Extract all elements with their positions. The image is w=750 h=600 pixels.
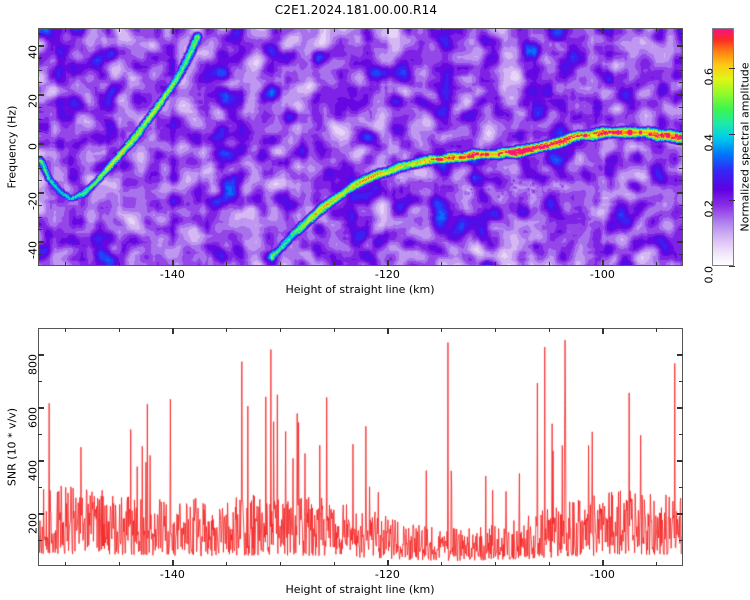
y-tick-label: 20 (27, 94, 40, 108)
x-tick-minor (65, 28, 66, 32)
x-tick-minor (334, 328, 335, 332)
x-tick-label: -140 (160, 568, 185, 581)
y-tick-minor (38, 229, 42, 230)
x-tick-label: -100 (590, 568, 615, 581)
y-tick-minor (38, 33, 42, 34)
y-tick-minor (38, 70, 42, 71)
x-tick-minor (656, 262, 657, 266)
x-tick-major (387, 28, 388, 34)
x-tick-minor (495, 262, 496, 266)
x-tick-minor (656, 28, 657, 32)
x-tick-major (387, 260, 388, 266)
x-tick-minor (495, 562, 496, 566)
spectrogram-x-axis-title: Height of straight line (km) (285, 283, 434, 296)
y-tick-label: 40 (27, 45, 40, 59)
page-title: C2E1.2024.181.00.00.R14 (0, 3, 712, 17)
y-tick-minor (38, 156, 42, 157)
snr-x-axis-title: Height of straight line (km) (285, 583, 434, 596)
y-tick-minor (679, 229, 683, 230)
spectrogram-plot-area[interactable] (38, 28, 683, 266)
y-tick-minor (38, 381, 42, 382)
x-tick-label: -120 (375, 268, 400, 281)
y-tick-label: 200 (27, 513, 40, 534)
y-tick-minor (38, 540, 42, 541)
y-tick-label: -20 (27, 192, 40, 210)
y-tick-minor (679, 254, 683, 255)
y-tick-minor (679, 381, 683, 382)
x-tick-minor (119, 562, 120, 566)
y-tick-minor (38, 131, 42, 132)
x-tick-minor (495, 328, 496, 332)
x-tick-major (172, 260, 173, 266)
x-tick-major (602, 560, 603, 566)
y-tick-minor (679, 540, 683, 541)
x-tick-minor (65, 262, 66, 266)
figure-canvas: C2E1.2024.181.00.00.R14 -140-120-1004020… (0, 0, 750, 600)
y-tick-label: 0 (27, 143, 40, 150)
y-tick-minor (679, 131, 683, 132)
x-tick-minor (334, 562, 335, 566)
x-tick-minor (280, 562, 281, 566)
y-tick-label: -40 (27, 241, 40, 259)
x-tick-minor (656, 328, 657, 332)
y-tick-minor (679, 205, 683, 206)
y-tick-minor (679, 107, 683, 108)
y-tick-major (677, 192, 683, 193)
y-tick-major (677, 143, 683, 144)
y-tick-minor (679, 33, 683, 34)
snr-y-axis-title: SNR (10 * v/v) (6, 408, 19, 486)
x-tick-major (172, 28, 173, 34)
y-tick-major (677, 407, 683, 408)
x-tick-minor (549, 262, 550, 266)
x-tick-minor (280, 328, 281, 332)
y-tick-minor (679, 487, 683, 488)
y-tick-label: 400 (27, 460, 40, 481)
x-tick-label: -100 (590, 268, 615, 281)
y-tick-major (677, 513, 683, 514)
y-tick-minor (679, 180, 683, 181)
x-tick-major (387, 328, 388, 334)
snr-plot-area[interactable] (38, 328, 683, 566)
colorbar-tick-label: 0.0 (703, 266, 716, 284)
colorbar-tick (729, 266, 735, 267)
x-tick-minor (549, 328, 550, 332)
colorbar-tick (729, 68, 735, 69)
snr-line-series (39, 329, 683, 566)
x-tick-major (172, 328, 173, 334)
x-tick-minor (226, 328, 227, 332)
colorbar-gradient (713, 29, 733, 265)
x-tick-label: -140 (160, 268, 185, 281)
colorbar-title: Normalized spectral amplitude (739, 62, 750, 231)
y-tick-minor (38, 434, 42, 435)
x-tick-minor (226, 262, 227, 266)
colorbar-tick-label: 0.2 (703, 200, 716, 218)
y-tick-major (677, 45, 683, 46)
x-tick-minor (119, 328, 120, 332)
y-tick-minor (38, 487, 42, 488)
y-tick-major (677, 94, 683, 95)
y-tick-minor (679, 156, 683, 157)
spectrogram-image (39, 29, 683, 266)
x-tick-minor (280, 262, 281, 266)
x-tick-minor (119, 262, 120, 266)
x-tick-major (602, 260, 603, 266)
x-tick-minor (334, 28, 335, 32)
colorbar-tick-label: 0.4 (703, 134, 716, 152)
x-tick-minor (226, 28, 227, 32)
x-tick-minor (226, 562, 227, 566)
y-tick-minor (38, 119, 42, 120)
y-tick-minor (679, 70, 683, 71)
y-tick-minor (679, 168, 683, 169)
y-tick-minor (679, 57, 683, 58)
x-tick-minor (549, 28, 550, 32)
x-tick-minor (65, 328, 66, 332)
x-tick-minor (334, 262, 335, 266)
x-tick-minor (65, 562, 66, 566)
y-tick-minor (38, 168, 42, 169)
x-tick-major (172, 560, 173, 566)
y-tick-minor (679, 119, 683, 120)
colorbar-tick (729, 200, 735, 201)
x-tick-minor (441, 262, 442, 266)
x-tick-major (387, 560, 388, 566)
x-tick-major (602, 328, 603, 334)
y-tick-label: 600 (27, 407, 40, 428)
y-tick-minor (38, 180, 42, 181)
x-tick-minor (441, 562, 442, 566)
x-tick-minor (495, 28, 496, 32)
x-tick-minor (441, 28, 442, 32)
colorbar-tick (729, 134, 735, 135)
spectrogram-y-axis-title: Frequency (Hz) (6, 106, 19, 189)
y-tick-label: 800 (27, 354, 40, 375)
y-tick-major (677, 241, 683, 242)
x-tick-minor (119, 28, 120, 32)
x-tick-minor (656, 562, 657, 566)
colorbar-tick-label: 0.6 (703, 68, 716, 86)
x-tick-minor (280, 28, 281, 32)
y-tick-major (677, 354, 683, 355)
y-tick-minor (679, 434, 683, 435)
x-tick-label: -120 (375, 568, 400, 581)
x-tick-minor (441, 328, 442, 332)
y-tick-minor (679, 217, 683, 218)
x-tick-major (602, 28, 603, 34)
y-tick-minor (679, 82, 683, 83)
y-tick-major (677, 460, 683, 461)
x-tick-minor (549, 562, 550, 566)
y-tick-minor (38, 217, 42, 218)
y-tick-minor (38, 82, 42, 83)
